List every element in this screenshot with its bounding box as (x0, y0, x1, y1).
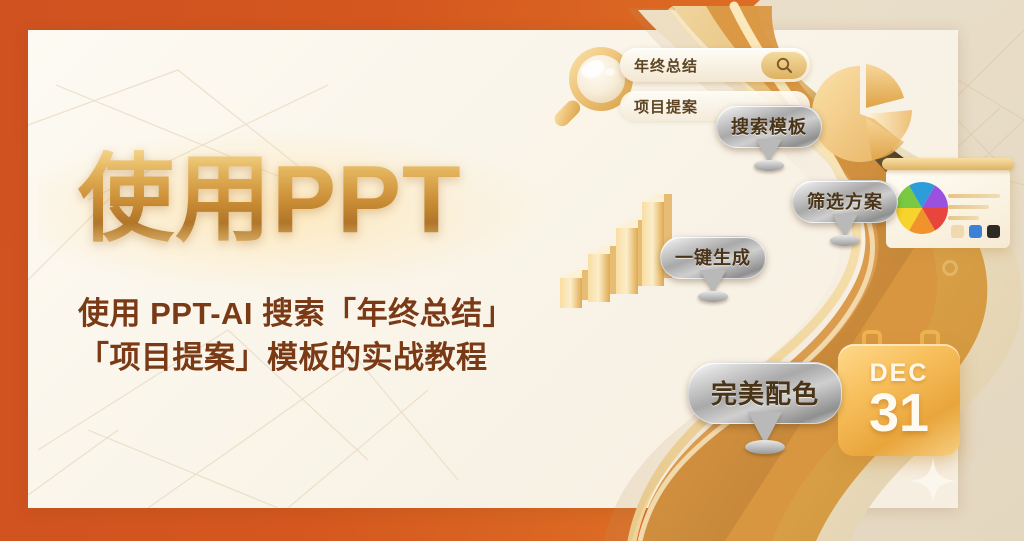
roadmap-pin-1[interactable]: 搜索模板 (716, 105, 822, 148)
calendar-body: DEC 31 (838, 344, 960, 456)
search-button[interactable] (761, 51, 807, 79)
search-icon (776, 57, 793, 74)
pin-label: 完美配色 (711, 374, 819, 411)
subtitle-line-2: 「项目提案」模板的实战教程 (78, 336, 548, 380)
board-top-bar (882, 158, 1014, 170)
roadmap-pin-3[interactable]: 一键生成 (660, 236, 766, 279)
presentation-board-icon (886, 158, 1012, 262)
bar-chart-icon (556, 182, 672, 308)
search-suggestion-text: 项目提案 (634, 96, 698, 117)
text-panel: 使用PPT 使用 PPT-AI 搜索「年终总结」 「项目提案」模板的实战教程 (28, 30, 568, 508)
page-title: 使用PPT (78, 150, 462, 251)
pie-chart-icon (808, 58, 918, 168)
board-pull-handle (942, 260, 958, 276)
page-subtitle: 使用 PPT-AI 搜索「年终总结」 「项目提案」模板的实战教程 (78, 292, 548, 380)
pin-label: 一键生成 (675, 244, 751, 270)
pin-label: 筛选方案 (807, 188, 883, 214)
calendar-icon: DEC 31 (838, 330, 968, 460)
subtitle-line-1: 使用 PPT-AI 搜索「年终总结」 (78, 292, 548, 336)
swatch-dark (987, 225, 1000, 238)
board-screen (886, 168, 1010, 248)
roadmap-pin-2[interactable]: 筛选方案 (792, 180, 898, 223)
roadmap-pin-4[interactable]: 完美配色 (688, 362, 842, 424)
board-text-lines (948, 194, 1000, 227)
pin-label: 搜索模板 (731, 113, 807, 139)
search-input[interactable]: 年终总结 (620, 48, 810, 82)
poster-canvas: 使用PPT 使用 PPT-AI 搜索「年终总结」 「项目提案」模板的实战教程 (0, 0, 1024, 541)
swatch-blue (969, 225, 982, 238)
search-query-text: 年终总结 (634, 55, 698, 76)
sparkle-icon (910, 458, 956, 504)
board-color-swatches (951, 225, 1000, 238)
calendar-day: 31 (869, 388, 929, 439)
color-wheel-icon (896, 182, 948, 234)
swatch-cream (951, 225, 964, 238)
illustration-panel: 年终总结 项目提案 (520, 0, 1024, 541)
